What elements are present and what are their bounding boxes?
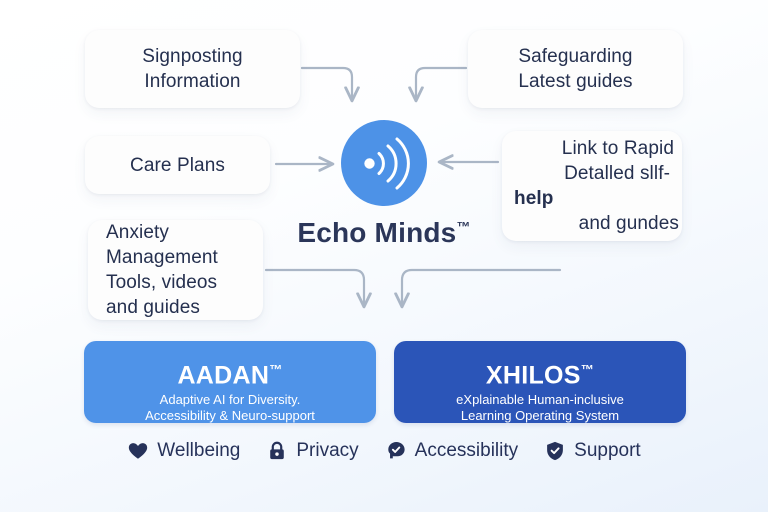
panel-aadan[interactable]: AADAN™ Adaptive AI for Diversity. Access… <box>84 341 376 423</box>
card-line: Information <box>142 69 242 94</box>
panel-sub-line: Accessibility & Neuro-support <box>84 408 376 424</box>
panel-xhilos-subtitle: eXplainable Human-inclusive Learning Ope… <box>394 392 686 424</box>
card-signposting[interactable]: Signposting Information <box>85 30 300 108</box>
card-line: Care Plans <box>130 153 225 178</box>
card-line: Tools, videos <box>106 270 218 295</box>
panel-xhilos[interactable]: XHILOS™ eXplainable Human-inclusive Lear… <box>394 341 686 423</box>
footer-attributes: Wellbeing Privacy Accessibility Support <box>0 440 768 462</box>
panel-sub-line: Adaptive AI for Diversity. <box>84 392 376 408</box>
card-line: Signposting <box>142 44 242 69</box>
card-line: Management <box>106 245 218 270</box>
trademark-symbol: ™ <box>581 362 594 377</box>
broadcast-waves-icon <box>341 120 427 206</box>
panel-aadan-subtitle: Adaptive AI for Diversity. Accessibility… <box>84 392 376 424</box>
card-line: Anxiety <box>106 220 218 245</box>
head-check-icon <box>385 440 407 462</box>
footer-label: Accessibility <box>415 440 518 462</box>
footer-item-privacy[interactable]: Privacy <box>266 440 358 462</box>
card-signposting-text: Signposting Information <box>142 44 242 94</box>
card-safeguarding[interactable]: Safeguarding Latest guides <box>468 30 683 108</box>
footer-item-support[interactable]: Support <box>544 440 641 462</box>
shield-check-icon <box>544 440 566 462</box>
diagram-canvas: Signposting Information Safeguarding Lat… <box>0 0 768 512</box>
echo-minds-logo[interactable] <box>341 120 427 206</box>
footer-label: Wellbeing <box>157 440 240 462</box>
card-line: Detalled sƖlf- <box>512 161 682 186</box>
panel-aadan-title: AADAN™ <box>84 356 376 389</box>
footer-label: Support <box>574 440 641 462</box>
card-care-plans[interactable]: Care Plans <box>85 136 270 194</box>
card-line: Latest guides <box>518 69 632 94</box>
heart-icon <box>127 440 149 462</box>
card-line: and guides <box>106 295 218 320</box>
footer-label: Privacy <box>296 440 358 462</box>
page-title: Echo Minds™ <box>254 217 514 249</box>
card-rapid-links-text: Link to Rapid Detalled sƖlf- help and gu… <box>512 136 682 236</box>
card-line: help <box>512 186 682 211</box>
footer-item-wellbeing[interactable]: Wellbeing <box>127 440 240 462</box>
card-anxiety-management[interactable]: Anxiety Management Tools, videos and gui… <box>88 220 263 320</box>
footer-item-accessibility[interactable]: Accessibility <box>385 440 518 462</box>
panel-xhilos-title: XHILOS™ <box>394 356 686 389</box>
trademark-symbol: ™ <box>456 219 470 235</box>
panel-sub-line: Learning Operating System <box>394 408 686 424</box>
card-line: Safeguarding <box>518 44 632 69</box>
card-care-plans-text: Care Plans <box>130 153 225 178</box>
lock-icon <box>266 440 288 462</box>
card-line: Link to Rapid <box>512 136 682 161</box>
trademark-symbol: ™ <box>269 362 282 377</box>
page-title-text: Echo Minds <box>297 217 456 248</box>
panel-title-text: AADAN <box>177 361 269 389</box>
panel-sub-line: eXplainable Human-inclusive <box>394 392 686 408</box>
card-line: and gundes <box>512 211 682 236</box>
card-rapid-links[interactable]: Link to Rapid Detalled sƖlf- help and gu… <box>502 131 682 241</box>
card-safeguarding-text: Safeguarding Latest guides <box>518 44 632 94</box>
panel-title-text: XHILOS <box>486 361 581 389</box>
card-anxiety-text: Anxiety Management Tools, videos and gui… <box>106 220 218 320</box>
